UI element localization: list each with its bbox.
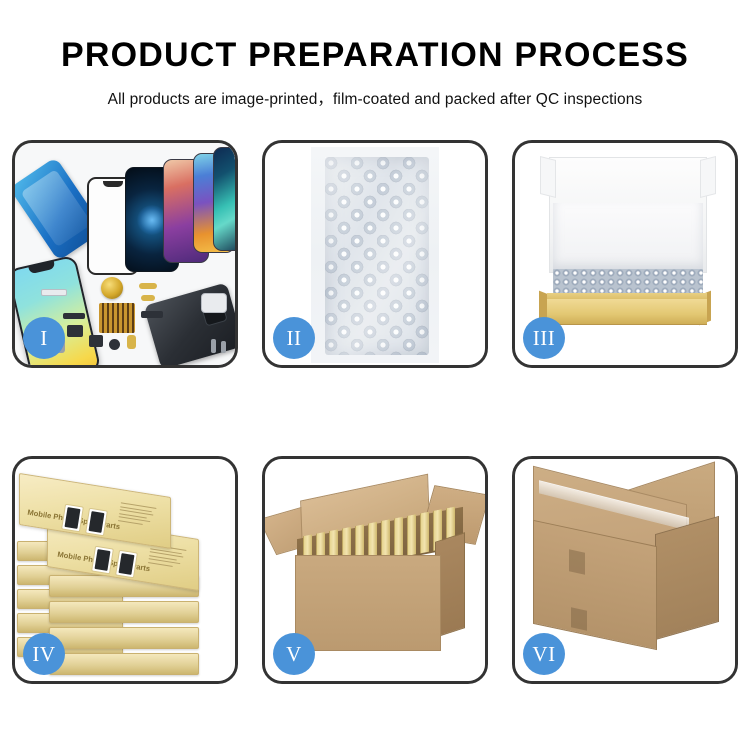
- spare-part: [141, 295, 155, 301]
- step-badge-4: IV: [23, 633, 65, 675]
- carton-front-panel: [295, 555, 441, 651]
- process-step-3: III: [512, 140, 738, 368]
- process-step-4: Mobile Phone Spare Parts Mobile Phone Sp…: [12, 456, 238, 684]
- gold-coil-part: [101, 277, 123, 299]
- box-phone-thumb: [91, 546, 114, 575]
- bubble-wrap-texture: [325, 157, 429, 355]
- screw-part: [221, 341, 226, 353]
- process-step-2: II: [262, 140, 488, 368]
- lcd-screen-teal: [213, 147, 235, 251]
- process-step-5: V: [262, 456, 488, 684]
- product-preparation-infographic: PRODUCT PREPARATION PROCESS All products…: [0, 0, 750, 750]
- spare-part: [63, 313, 85, 319]
- spare-part: [139, 283, 157, 289]
- step-badge-3: III: [523, 317, 565, 359]
- spare-part: [127, 335, 136, 349]
- box-front-panel: [547, 299, 707, 325]
- process-step-6: VI: [512, 456, 738, 684]
- process-step-1: I: [12, 140, 238, 368]
- foam-insert: [553, 203, 703, 271]
- spare-part: [109, 339, 120, 350]
- box-phone-thumb: [115, 550, 138, 579]
- step-badge-2: II: [273, 317, 315, 359]
- tool-part: [201, 293, 227, 313]
- spare-part: [89, 335, 103, 347]
- connector-chip-part: [99, 303, 135, 333]
- sealed-carton-side-panel: [655, 516, 719, 640]
- box-phone-thumb: [85, 508, 108, 537]
- step-badge-6: VI: [523, 633, 565, 675]
- page-subtitle: All products are image-printed，film-coat…: [0, 87, 750, 109]
- process-step-grid: I II III: [12, 140, 738, 735]
- step-badge-5: V: [273, 633, 315, 675]
- spare-part: [141, 311, 163, 318]
- spare-part: [41, 289, 67, 296]
- header: PRODUCT PREPARATION PROCESS All products…: [0, 0, 750, 109]
- carton-seam: [571, 607, 587, 630]
- bubble-wrapped-contents: [553, 269, 703, 295]
- screw-part: [211, 339, 216, 353]
- step-badge-1: I: [23, 317, 65, 359]
- box-phone-thumb: [61, 504, 84, 533]
- spare-part: [67, 325, 83, 337]
- carton-seam: [569, 549, 585, 574]
- page-title: PRODUCT PREPARATION PROCESS: [0, 38, 750, 74]
